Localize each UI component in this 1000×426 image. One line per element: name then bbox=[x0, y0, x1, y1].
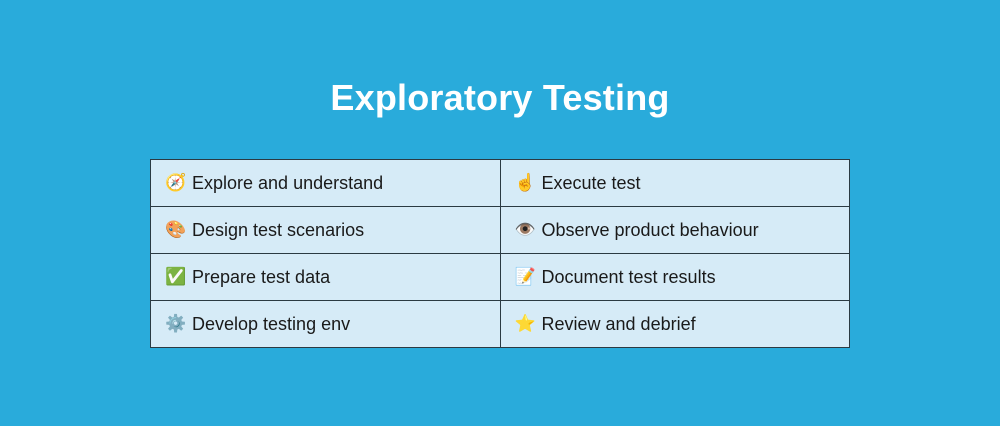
table-row: ✅ Prepare test data 📝 Document test resu… bbox=[151, 254, 850, 301]
star-icon: ⭐ bbox=[515, 316, 535, 333]
task-label: Observe product behaviour bbox=[542, 219, 759, 241]
pointing-up-icon: ☝️ bbox=[515, 175, 535, 192]
task-cell-right[interactable]: 👁️ Observe product behaviour bbox=[500, 207, 850, 254]
task-label: Document test results bbox=[542, 266, 716, 288]
task-cell-right[interactable]: 📝 Document test results bbox=[500, 254, 850, 301]
task-label: Execute test bbox=[542, 172, 641, 194]
task-cell-left[interactable]: 🧭 Explore and understand bbox=[151, 160, 501, 207]
task-cell-right[interactable]: ⭐ Review and debrief bbox=[500, 301, 850, 348]
task-cell-left[interactable]: ⚙️ Develop testing env bbox=[151, 301, 501, 348]
page-title: Exploratory Testing bbox=[0, 76, 1000, 120]
task-cell-right[interactable]: ☝️ Execute test bbox=[500, 160, 850, 207]
gear-icon: ⚙️ bbox=[165, 316, 185, 333]
task-label: Explore and understand bbox=[192, 172, 383, 194]
palette-icon: 🎨 bbox=[165, 222, 185, 239]
table-row: 🎨 Design test scenarios 👁️ Observe produ… bbox=[151, 207, 850, 254]
exploratory-testing-task-table: 🧭 Explore and understand ☝️ Execute test… bbox=[150, 159, 850, 348]
compass-icon: 🧭 bbox=[165, 175, 185, 192]
memo-icon: 📝 bbox=[515, 269, 535, 286]
task-cell-left[interactable]: 🎨 Design test scenarios bbox=[151, 207, 501, 254]
task-label: Design test scenarios bbox=[192, 219, 364, 241]
slide-canvas: Exploratory Testing 🧭 Explore and unders… bbox=[0, 0, 1000, 426]
table-row: 🧭 Explore and understand ☝️ Execute test bbox=[151, 160, 850, 207]
table-row: ⚙️ Develop testing env ⭐ Review and debr… bbox=[151, 301, 850, 348]
task-label: Develop testing env bbox=[192, 313, 350, 335]
check-mark-icon: ✅ bbox=[165, 269, 185, 286]
eye-icon: 👁️ bbox=[515, 222, 535, 239]
task-cell-left[interactable]: ✅ Prepare test data bbox=[151, 254, 501, 301]
task-label: Review and debrief bbox=[542, 313, 696, 335]
task-label: Prepare test data bbox=[192, 266, 330, 288]
